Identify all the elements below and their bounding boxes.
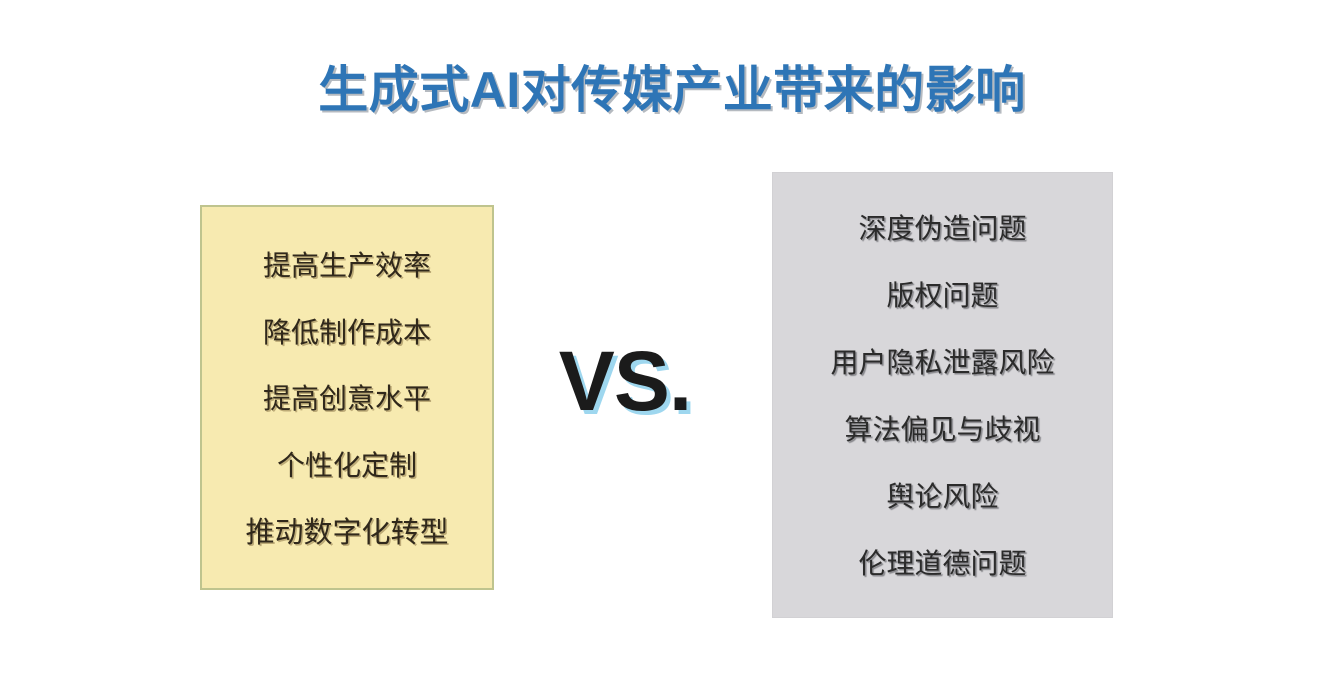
cons-item: 算法偏见与歧视 xyxy=(779,413,1106,447)
page-title: 生成式AI对传媒产业带来的影响 xyxy=(0,62,1344,118)
pros-item: 推动数字化转型 xyxy=(208,516,486,550)
cons-item: 伦理道德问题 xyxy=(779,547,1106,581)
pros-item: 个性化定制 xyxy=(208,449,486,483)
pros-panel: 提高生产效率 降低制作成本 提高创意水平 个性化定制 推动数字化转型 xyxy=(200,205,494,590)
pros-item: 提高生产效率 xyxy=(208,249,486,283)
vs-label: VS. xyxy=(545,336,705,426)
cons-item: 舆论风险 xyxy=(779,480,1106,514)
pros-item: 提高创意水平 xyxy=(208,382,486,416)
presentation-slide: 生成式AI对传媒产业带来的影响 提高生产效率 降低制作成本 提高创意水平 个性化… xyxy=(0,0,1344,692)
cons-item: 深度伪造问题 xyxy=(779,212,1106,246)
cons-panel: 深度伪造问题 版权问题 用户隐私泄露风险 算法偏见与歧视 舆论风险 伦理道德问题 xyxy=(772,172,1113,618)
cons-item: 版权问题 xyxy=(779,279,1106,313)
pros-item: 降低制作成本 xyxy=(208,316,486,350)
cons-item: 用户隐私泄露风险 xyxy=(779,346,1106,380)
